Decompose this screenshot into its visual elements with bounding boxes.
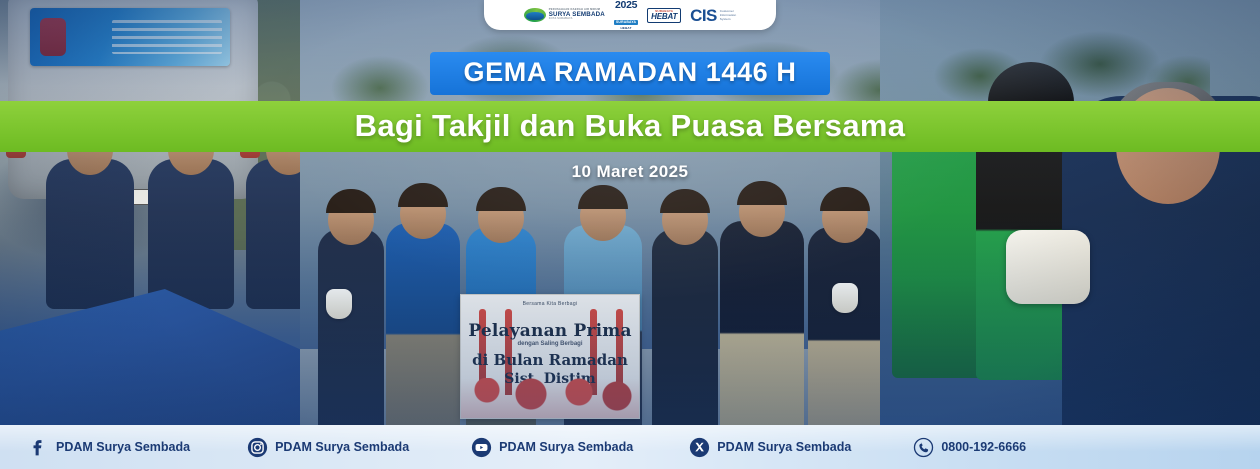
group-person-6 xyxy=(720,221,804,435)
surabaya-hebat-logo: SURABAYA HEBAT xyxy=(647,8,681,23)
footer-label-facebook: PDAM Surya Sembada xyxy=(56,440,190,454)
cis-expansion: Customer Information System xyxy=(720,9,737,22)
person-head xyxy=(662,195,708,245)
headline-primary: GEMA RAMADAN 1446 H xyxy=(430,52,831,95)
footer-label-phone: 0800-192-6666 xyxy=(941,440,1026,454)
group-person-2 xyxy=(386,223,460,435)
logo-year-sub: SURABAYA xyxy=(614,20,638,25)
person-head xyxy=(400,189,446,239)
person-head xyxy=(478,193,524,243)
social-footer-bar: PDAM Surya Sembada PDAM Surya Sembada xyxy=(0,425,1260,469)
footer-item-x-twitter[interactable]: PDAM Surya Sembada xyxy=(689,437,851,458)
footer-item-phone[interactable]: 0800-192-6666 xyxy=(913,437,1026,458)
group-person-1 xyxy=(318,229,384,435)
footer-item-facebook[interactable]: PDAM Surya Sembada xyxy=(28,437,190,458)
event-banner-prop: Bersama Kita Berbagi Pelayanan Prima den… xyxy=(460,294,640,419)
surya-sembada-logo-text: PERUSAHAAN DAERAH AIR MINUM SURYA SEMBAD… xyxy=(549,9,605,20)
phone-icon[interactable] xyxy=(913,437,934,458)
group-person-7 xyxy=(808,227,882,435)
footer-label-x-twitter: PDAM Surya Sembada xyxy=(717,440,851,454)
event-banner-header: Bersama Kita Berbagi xyxy=(461,301,639,307)
takjil-food-package xyxy=(326,289,352,319)
van-ad-text-lines xyxy=(112,20,222,54)
footer-item-instagram[interactable]: PDAM Surya Sembada xyxy=(247,437,409,458)
person-head xyxy=(739,187,785,237)
footer-item-youtube[interactable]: PDAM Surya Sembada xyxy=(471,437,633,458)
facebook-icon[interactable] xyxy=(28,437,49,458)
hebat-logo-main: HEBAT xyxy=(651,13,677,21)
youtube-icon[interactable] xyxy=(471,437,492,458)
person-head xyxy=(822,193,868,243)
instagram-icon[interactable] xyxy=(247,437,268,458)
takjil-food-package xyxy=(832,283,858,313)
headline-block: GEMA RAMADAN 1446 H Bagi Takjil dan Buka… xyxy=(0,52,1260,182)
cis-acronym: CIS xyxy=(690,7,717,24)
surya-sembada-logo: PERUSAHAAN DAERAH AIR MINUM SURYA SEMBAD… xyxy=(524,8,605,22)
cis-logo: CIS Customer Information System xyxy=(690,7,736,24)
footer-label-youtube: PDAM Surya Sembada xyxy=(499,440,633,454)
mosque-skyline-graphic xyxy=(461,378,639,418)
person-head xyxy=(580,191,626,241)
water-droplet-icon xyxy=(524,8,546,22)
event-banner-line2: di Bulan Ramadan xyxy=(461,351,639,369)
logo-line-bottom: KOTA SURABAYA xyxy=(549,18,605,21)
2025-logo: 2025 SURABAYA HEBAT xyxy=(614,0,638,30)
headline-secondary: Bagi Takjil dan Buka Puasa Bersama xyxy=(0,101,1260,152)
group-person-5 xyxy=(652,229,718,435)
takjil-food-package xyxy=(1006,230,1090,304)
event-banner-subtitle: dengan Saling Berbagi xyxy=(461,341,639,347)
logo-bar: PERUSAHAAN DAERAH AIR MINUM SURYA SEMBAD… xyxy=(484,0,776,30)
logo-year: 2025 xyxy=(614,0,638,11)
x-twitter-icon[interactable] xyxy=(689,437,710,458)
event-date: 10 Maret 2025 xyxy=(0,162,1260,182)
person-head xyxy=(328,195,374,245)
logo-year-sub2: HEBAT xyxy=(614,27,638,30)
event-banner-line1: Pelayanan Prima xyxy=(461,321,639,341)
ramadan-campaign-banner: Bersama Kita Berbagi Pelayanan Prima den… xyxy=(0,0,1260,469)
cis-expansion-line3: System xyxy=(720,17,737,21)
footer-label-instagram: PDAM Surya Sembada xyxy=(275,440,409,454)
